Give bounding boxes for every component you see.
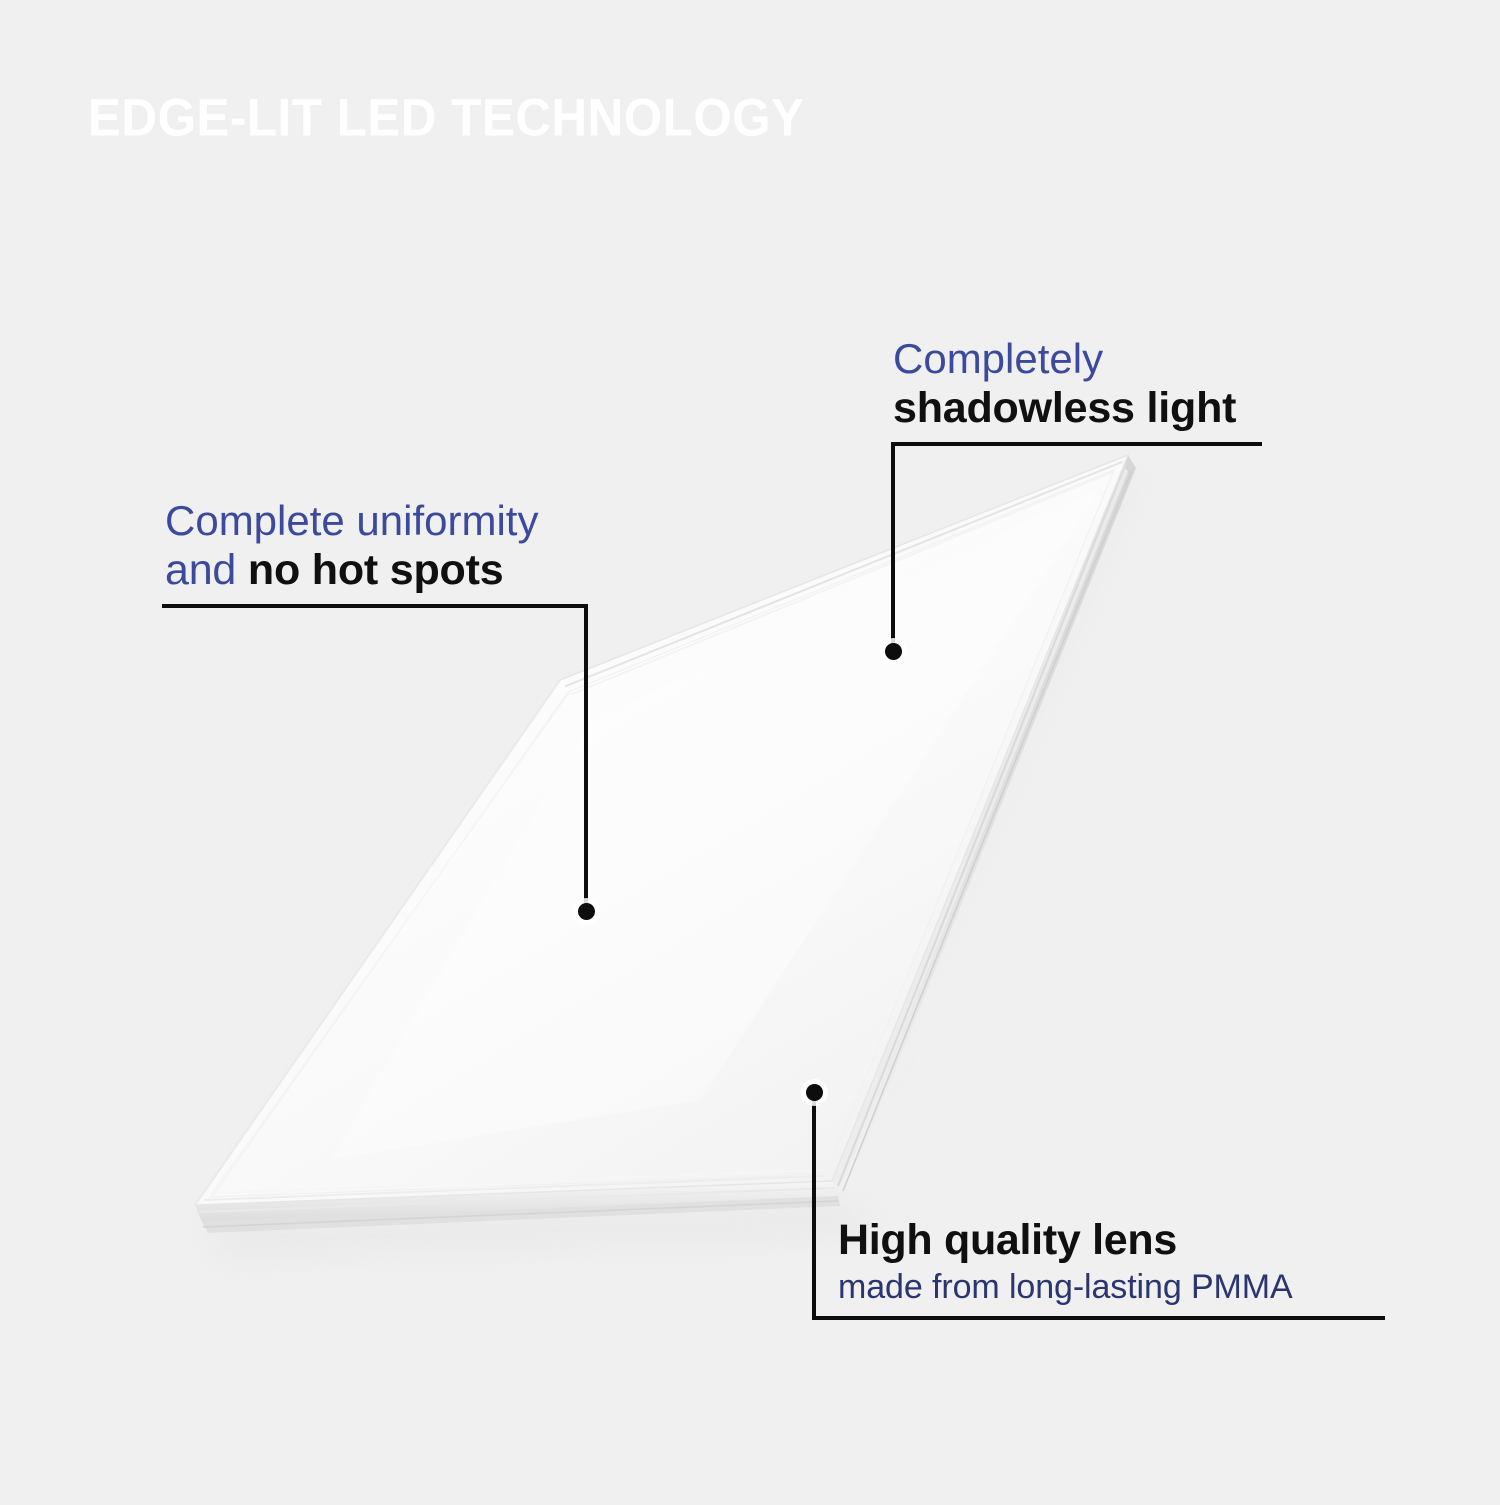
callout-uniformity-line1: Complete uniformity (165, 498, 538, 543)
shadowless-light-marker (885, 643, 902, 660)
callout-lens-underline (812, 1316, 1385, 1320)
panel-bottom-frame-edge (195, 1181, 840, 1233)
callout-uniformity: Complete uniformity and no hot spots (165, 498, 538, 594)
callout-shadowless-light: Completely shadowless light (893, 336, 1236, 432)
callout-lens-line1: High quality lens (838, 1217, 1293, 1263)
callout-shadowless-underline (893, 442, 1262, 446)
infographic-canvas: EDGE-LIT LED TECHNOLOGY (0, 0, 1500, 1500)
callout-uniformity-line2-prefix: and (165, 546, 248, 594)
callout-uniformity-leader-vertical (584, 604, 588, 911)
no-hot-spots-marker (578, 903, 595, 920)
callout-shadowless-leader-vertical (891, 442, 895, 651)
header-banner: EDGE-LIT LED TECHNOLOGY (0, 68, 1022, 170)
callout-high-quality-lens: High quality lens made from long-lasting… (838, 1217, 1293, 1306)
header-banner-title: EDGE-LIT LED TECHNOLOGY (88, 91, 859, 144)
callout-lens-line2: made from long-lasting PMMA (838, 1269, 1293, 1306)
callout-uniformity-line2: and no hot spots (165, 547, 538, 593)
page-title: EDGE-LIT LED TECHNOLOGY (88, 91, 805, 144)
high-quality-lens-marker (806, 1084, 823, 1101)
callout-shadowless-line2: shadowless light (893, 385, 1236, 431)
callout-uniformity-underline (162, 604, 588, 608)
callout-lens-leader-vertical (812, 1092, 816, 1320)
callout-uniformity-line2-bold: no hot spots (248, 546, 504, 594)
panel-lens-edge (831, 455, 1136, 1192)
callout-shadowless-line1: Completely (893, 336, 1236, 381)
